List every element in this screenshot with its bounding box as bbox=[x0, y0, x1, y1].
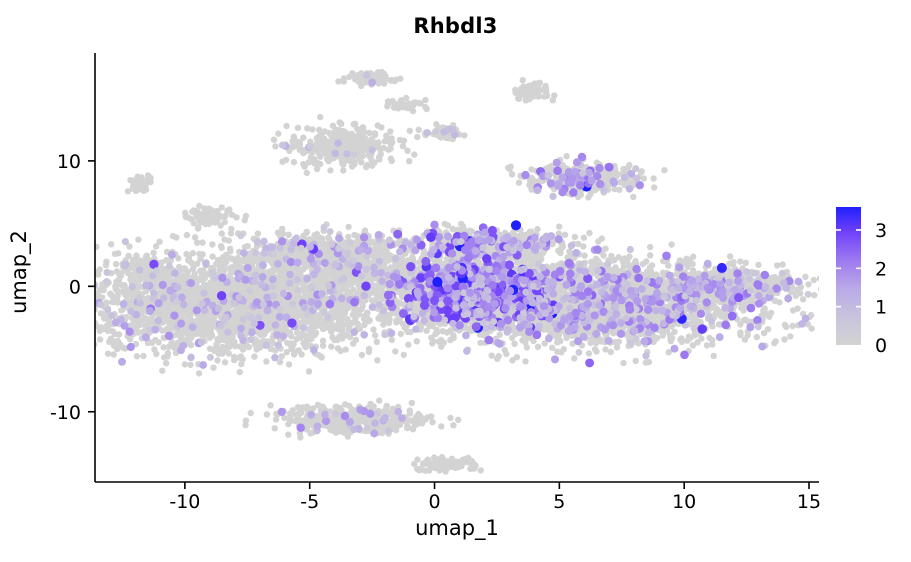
data-point bbox=[279, 353, 285, 359]
data-point bbox=[307, 319, 313, 325]
data-point bbox=[88, 317, 94, 323]
data-point bbox=[351, 232, 357, 238]
data-point bbox=[283, 301, 289, 307]
data-point bbox=[271, 268, 277, 274]
data-point bbox=[690, 253, 696, 259]
scatter-svg: -10-5051015 100-10 umap_1 umap_2 0123 bbox=[0, 0, 911, 562]
data-point bbox=[344, 305, 350, 311]
data-point bbox=[170, 233, 176, 239]
data-point bbox=[286, 361, 292, 367]
data-point bbox=[156, 339, 162, 345]
data-point bbox=[382, 318, 388, 324]
data-point bbox=[263, 358, 269, 364]
data-point bbox=[214, 357, 220, 363]
data-point bbox=[286, 232, 292, 238]
data-point bbox=[88, 303, 94, 309]
data-point bbox=[374, 339, 380, 345]
data-point bbox=[116, 331, 122, 337]
data-point bbox=[219, 230, 225, 236]
data-point bbox=[240, 356, 246, 362]
data-point bbox=[95, 271, 101, 277]
data-point bbox=[209, 241, 215, 247]
data-point bbox=[409, 254, 415, 260]
figure-root: Rhbdl3 -10-5051015 100-10 bbox=[0, 0, 911, 562]
data-point bbox=[148, 319, 154, 325]
data-point bbox=[140, 353, 146, 359]
data-point bbox=[294, 330, 300, 336]
data-point bbox=[236, 310, 242, 316]
data-point bbox=[245, 243, 251, 249]
data-point bbox=[323, 252, 329, 258]
data-point bbox=[303, 264, 309, 270]
data-point bbox=[360, 303, 366, 309]
data-point bbox=[190, 266, 196, 272]
data-point bbox=[255, 230, 261, 236]
data-point bbox=[240, 346, 246, 352]
data-point bbox=[300, 253, 306, 259]
data-point bbox=[212, 346, 218, 352]
data-point bbox=[183, 251, 189, 257]
data-point bbox=[374, 357, 380, 363]
data-point bbox=[324, 268, 330, 274]
data-point bbox=[424, 328, 430, 334]
data-point bbox=[134, 353, 140, 359]
data-point bbox=[350, 280, 356, 286]
data-point bbox=[345, 234, 351, 240]
data-point bbox=[320, 343, 326, 349]
data-point bbox=[97, 336, 103, 342]
data-point bbox=[86, 300, 92, 306]
data-point bbox=[356, 280, 362, 286]
data-point bbox=[197, 256, 203, 262]
data-point bbox=[108, 336, 114, 342]
data-point bbox=[164, 302, 170, 308]
data-point bbox=[182, 361, 188, 367]
data-point bbox=[401, 352, 407, 358]
data-point bbox=[250, 259, 256, 265]
data-point bbox=[312, 332, 318, 338]
data-point bbox=[313, 323, 319, 329]
data-points-layer bbox=[86, 69, 829, 475]
data-point bbox=[222, 359, 228, 365]
data-point bbox=[108, 241, 114, 247]
data-point bbox=[230, 256, 236, 262]
data-point bbox=[329, 324, 335, 330]
data-point bbox=[401, 270, 407, 276]
data-point bbox=[256, 288, 262, 294]
data-point bbox=[398, 331, 404, 337]
data-point bbox=[88, 316, 94, 322]
data-point bbox=[251, 353, 257, 359]
data-point bbox=[314, 231, 320, 237]
data-point bbox=[190, 250, 196, 256]
data-point bbox=[275, 230, 281, 236]
data-point bbox=[160, 344, 166, 350]
data-point bbox=[209, 253, 215, 259]
data-point bbox=[219, 245, 225, 251]
data-point bbox=[86, 312, 92, 318]
data-point bbox=[398, 263, 404, 269]
data-point bbox=[153, 243, 159, 249]
data-point bbox=[181, 266, 187, 272]
data-point bbox=[301, 285, 307, 291]
data-point bbox=[117, 341, 123, 347]
data-point bbox=[88, 318, 94, 324]
data-point bbox=[115, 250, 121, 256]
data-point bbox=[253, 346, 259, 352]
data-point bbox=[318, 354, 324, 360]
data-point bbox=[378, 246, 384, 252]
data-point bbox=[200, 267, 206, 273]
data-point bbox=[365, 318, 371, 324]
data-point bbox=[111, 342, 117, 348]
data-point bbox=[359, 352, 365, 358]
data-point bbox=[549, 345, 555, 351]
data-point bbox=[103, 262, 109, 268]
data-point bbox=[105, 351, 111, 357]
data-point bbox=[196, 370, 202, 376]
data-point bbox=[135, 237, 141, 243]
data-point bbox=[222, 348, 228, 354]
data-point bbox=[113, 261, 119, 267]
data-point bbox=[304, 229, 310, 235]
data-point bbox=[214, 336, 220, 342]
data-point bbox=[208, 332, 214, 338]
data-point bbox=[366, 349, 372, 355]
data-point bbox=[372, 332, 378, 338]
data-point bbox=[343, 321, 349, 327]
data-point bbox=[338, 333, 344, 339]
data-point bbox=[337, 321, 343, 327]
data-point bbox=[237, 369, 243, 375]
data-point bbox=[303, 343, 309, 349]
data-point bbox=[210, 365, 216, 371]
data-point bbox=[392, 348, 398, 354]
data-point bbox=[336, 314, 342, 320]
data-point bbox=[209, 284, 215, 290]
data-point bbox=[217, 265, 223, 271]
data-point bbox=[163, 360, 169, 366]
data-point bbox=[291, 307, 297, 313]
data-point bbox=[194, 240, 200, 246]
data-point bbox=[754, 334, 760, 340]
data-point bbox=[164, 353, 170, 359]
data-point bbox=[371, 252, 377, 258]
data-point bbox=[326, 236, 332, 242]
data-point bbox=[115, 289, 121, 295]
data-point bbox=[743, 260, 749, 266]
data-point bbox=[89, 313, 95, 319]
data-point bbox=[184, 232, 190, 238]
data-point bbox=[782, 322, 788, 328]
data-point bbox=[138, 273, 144, 279]
data-point bbox=[389, 337, 395, 343]
data-point bbox=[329, 334, 335, 340]
data-point bbox=[174, 306, 180, 312]
data-point bbox=[109, 299, 115, 305]
data-point bbox=[370, 326, 376, 332]
data-point bbox=[159, 368, 165, 374]
data-point bbox=[241, 258, 247, 264]
data-point bbox=[150, 250, 156, 256]
data-point bbox=[149, 340, 155, 346]
data-point bbox=[319, 235, 325, 241]
data-point bbox=[208, 325, 214, 331]
data-point bbox=[306, 368, 312, 374]
data-point bbox=[133, 252, 139, 258]
data-point bbox=[175, 255, 181, 261]
plot-canvas: -10-5051015 100-10 umap_1 umap_2 0123 bbox=[0, 0, 911, 562]
data-point bbox=[158, 259, 164, 265]
data-point bbox=[99, 311, 105, 317]
data-point bbox=[288, 333, 294, 339]
data-point bbox=[323, 324, 329, 330]
data-point bbox=[414, 338, 420, 344]
data-point bbox=[105, 323, 111, 329]
data-point bbox=[111, 351, 117, 357]
data-point bbox=[198, 317, 204, 323]
data-point bbox=[138, 261, 144, 267]
data-point bbox=[349, 320, 355, 326]
data-point bbox=[321, 242, 327, 248]
data-point bbox=[188, 342, 194, 348]
data-point bbox=[405, 342, 411, 348]
data-point bbox=[535, 344, 541, 350]
data-point bbox=[192, 295, 198, 301]
data-point bbox=[353, 337, 359, 343]
data-point bbox=[90, 245, 96, 251]
data-point bbox=[711, 353, 717, 359]
data-point bbox=[219, 258, 225, 264]
data-point bbox=[185, 257, 191, 263]
data-point bbox=[266, 315, 272, 321]
data-point bbox=[231, 354, 237, 360]
data-point bbox=[201, 273, 207, 279]
data-point bbox=[187, 308, 193, 314]
data-point bbox=[153, 351, 159, 357]
data-point bbox=[125, 270, 131, 276]
data-point bbox=[291, 351, 297, 357]
data-point bbox=[141, 315, 147, 321]
data-point bbox=[323, 277, 329, 283]
data-point bbox=[364, 310, 370, 316]
data-point bbox=[369, 239, 375, 245]
data-point bbox=[647, 252, 653, 258]
data-point bbox=[765, 326, 771, 332]
data-point bbox=[118, 270, 124, 276]
data-point bbox=[232, 343, 238, 349]
data-point bbox=[88, 287, 94, 293]
data-point bbox=[187, 362, 193, 368]
data-point bbox=[345, 224, 351, 230]
data-point bbox=[117, 281, 123, 287]
data-point bbox=[811, 277, 817, 283]
data-point bbox=[287, 341, 293, 347]
data-point bbox=[164, 270, 170, 276]
data-point bbox=[87, 276, 93, 282]
data-point bbox=[328, 343, 334, 349]
data-point bbox=[227, 265, 233, 271]
data-point bbox=[335, 307, 341, 313]
data-point bbox=[207, 315, 213, 321]
data-point bbox=[223, 252, 229, 258]
data-point bbox=[338, 348, 344, 354]
data-point bbox=[226, 237, 232, 243]
